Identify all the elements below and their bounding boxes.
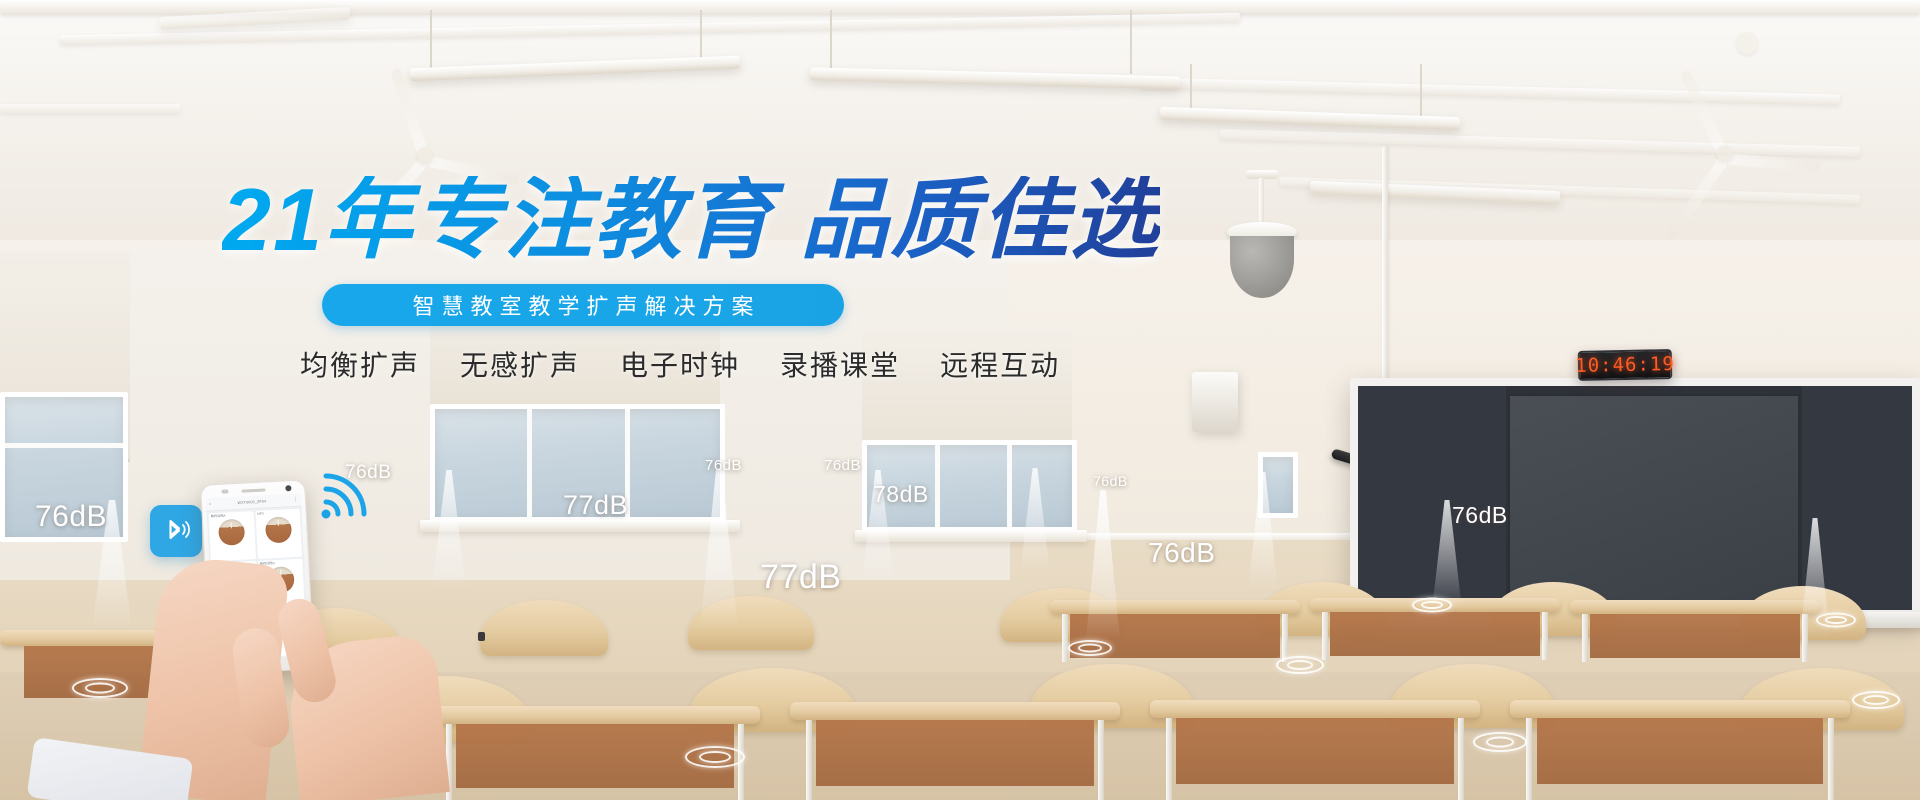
master-volume-slider[interactable]: [217, 620, 303, 637]
chair: [688, 596, 814, 650]
phone-front-camera: [285, 485, 291, 491]
phone-screen: ‹ WXT3002_ZF04 ⋮ 教师话筒A MP3 教师话筒C: [206, 494, 309, 662]
light-rod: [830, 10, 832, 76]
scene-mode-toggle[interactable]: [233, 645, 245, 654]
window-sill: [855, 530, 1087, 542]
page-title: 21年专注教育 品质佳选: [222, 176, 1160, 264]
interactive-blackboard: [1350, 378, 1920, 618]
desk: [1150, 700, 1480, 800]
chevron-left-icon[interactable]: ‹: [209, 502, 211, 507]
settings-label: 设置: [265, 645, 272, 650]
slider-handle[interactable]: [293, 623, 299, 629]
board-wing-left: [1358, 386, 1506, 610]
channel-label: 教师话筒C: [213, 565, 228, 570]
scene-mode-label: 场景模式: [219, 647, 232, 653]
clock-time: 10:46:19: [1575, 354, 1675, 375]
ceiling-beam: [0, 104, 180, 113]
phone-sensor: [221, 489, 228, 493]
bluetooth-icon: [161, 516, 191, 546]
digital-clock: 10:46:19: [1578, 349, 1673, 381]
volume-knob[interactable]: [221, 568, 248, 595]
window-sill: [420, 520, 740, 532]
ceiling-fan: [1720, 148, 1730, 158]
light-rod: [1420, 64, 1422, 120]
window: [430, 404, 725, 522]
app-bottom-buttons: 场景模式 设置: [213, 637, 309, 661]
wall-receiver-box: [1192, 372, 1238, 432]
board-display: [1508, 394, 1800, 602]
desk: [1310, 598, 1560, 660]
app-title: WXT3002_ZF04: [237, 499, 266, 505]
channel-label: 教师话筒D: [260, 562, 275, 567]
ceiling-fan: [420, 150, 430, 160]
master-volume-card: 总音量 +: [214, 609, 306, 641]
scene-mode-button[interactable]: 场景模式: [215, 640, 260, 659]
subtitle-pill-label: 智慧教室教学扩声解决方案: [405, 289, 760, 321]
desk: [1050, 600, 1300, 662]
desk: [790, 702, 1120, 800]
master-volume-label: 总音量: [217, 616, 227, 621]
volume-knob[interactable]: [265, 516, 292, 543]
bluetooth-badge: [150, 505, 202, 557]
desk: [1570, 600, 1820, 662]
light-rod: [1130, 10, 1132, 74]
smartphone: ‹ WXT3002_ZF04 ⋮ 教师话筒A MP3 教师话筒C: [200, 479, 315, 674]
feature-list: 均衡扩声 无感扩声 电子时钟 录播课堂 远程互动: [300, 344, 1060, 384]
channel-card[interactable]: 教师话筒C: [211, 561, 258, 611]
channel-label: 教师话筒A: [211, 515, 226, 520]
nav-home-icon[interactable]: [259, 662, 264, 667]
feature-item: 电子时钟: [620, 344, 740, 384]
volume-knob[interactable]: [218, 518, 245, 545]
chair: [480, 600, 608, 656]
plus-icon[interactable]: +: [299, 612, 302, 617]
desk: [1510, 700, 1850, 800]
window: [862, 440, 1077, 532]
board-wing-right: [1802, 386, 1912, 610]
classroom-banner: 10:46:19: [0, 0, 1920, 800]
more-vertical-icon[interactable]: ⋮: [293, 497, 298, 502]
nav-recents-icon[interactable]: [291, 660, 296, 665]
desk: [430, 706, 760, 800]
feature-item: 无感扩声: [460, 344, 580, 384]
subtitle-pill: 智慧教室教学扩声解决方案: [322, 284, 844, 326]
window: [0, 392, 128, 542]
channel-card[interactable]: MP3: [255, 509, 302, 559]
volume-knob[interactable]: [267, 566, 294, 593]
slider-fill: [217, 621, 282, 637]
feature-item: 远程互动: [940, 344, 1060, 384]
wifi-signal-icon: [320, 468, 376, 520]
nav-back-icon[interactable]: [228, 663, 233, 668]
light-rod: [430, 10, 432, 68]
phone-earpiece: [241, 488, 265, 492]
window: [1258, 452, 1298, 518]
speaker-rod: [1259, 178, 1264, 228]
channel-label: MP3: [257, 513, 264, 517]
channel-card[interactable]: 教师话筒A: [209, 511, 256, 561]
feature-item: 录播课堂: [780, 344, 900, 384]
settings-button[interactable]: 设置: [262, 638, 307, 657]
channel-grid: 教师话筒A MP3 教师话筒C 教师话筒D: [207, 507, 307, 614]
ceiling-fan: [1742, 38, 1752, 48]
channel-card[interactable]: 教师话筒D: [258, 559, 305, 609]
feature-item: 均衡扩声: [300, 344, 420, 384]
wifi-waves: [320, 468, 376, 525]
